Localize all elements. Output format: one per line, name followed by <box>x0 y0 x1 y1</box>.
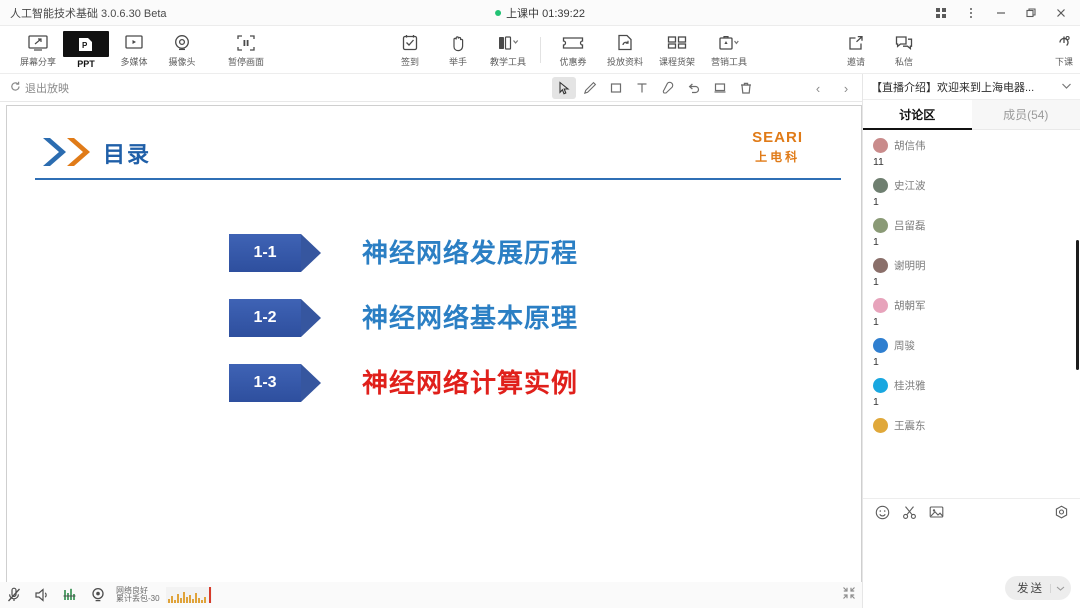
raise-hand-icon <box>450 33 466 53</box>
avatar <box>873 338 888 353</box>
toolbar-divider <box>540 37 541 63</box>
chat-tabs: 讨论区 成员(54) <box>863 100 1080 130</box>
chat-text: 1 <box>873 276 1070 288</box>
undo-tool[interactable] <box>682 77 706 99</box>
image-icon[interactable] <box>929 505 944 519</box>
chat-text: 1 <box>873 396 1070 408</box>
chat-text: 11 <box>873 156 1070 168</box>
avatar <box>873 138 888 153</box>
chevron-orange-icon <box>65 136 99 168</box>
grid-icon[interactable] <box>926 0 956 26</box>
slide-canvas[interactable]: 目录 SEARI 上电科 1-1 神经网络发展历程 1-2 <box>6 105 862 608</box>
toolbar-camera[interactable]: 摄像头 <box>158 27 206 73</box>
packet-loss-label: 累计丢包-30 <box>116 595 160 603</box>
toolbar-ppt-label: PPT <box>77 59 95 69</box>
toc-badge: 1-1 <box>229 234 319 272</box>
chat-sender: 谢明明 <box>894 258 926 273</box>
chat-sender: 胡朝军 <box>894 298 926 313</box>
chat-message: 周骏 1 <box>873 338 1070 368</box>
trash-tool[interactable] <box>734 77 758 99</box>
toolbar-push-material-label: 投放资料 <box>607 55 643 68</box>
rotate-exit-icon <box>10 81 21 95</box>
marketing-tools-icon <box>718 33 740 53</box>
slide-header: 目录 SEARI 上电科 <box>7 106 862 181</box>
toolbar-marketing-tools[interactable]: 营销工具 <box>703 27 755 73</box>
slide-toc: 1-1 神经网络发展历程 1-2 神经网络基本原理 1-3 <box>7 234 862 429</box>
chat-message: 胡朝军 1 <box>873 298 1070 328</box>
toc-number: 1-1 <box>229 234 301 272</box>
exit-presentation-button[interactable]: 退出放映 <box>10 80 69 96</box>
toolbar-teaching-tools-label: 教学工具 <box>490 55 526 68</box>
eraser-tool[interactable] <box>656 77 680 99</box>
chat-sender: 周骏 <box>894 338 915 353</box>
cursor-tool[interactable] <box>552 77 576 99</box>
emoji-icon[interactable] <box>875 505 890 520</box>
chat-message: 史江波 1 <box>873 178 1070 208</box>
chat-message: 吕留磊 1 <box>873 218 1070 248</box>
toolbar-coupon-label: 优惠券 <box>559 55 586 68</box>
toolbar-pause-frame[interactable]: 暂停画面 <box>220 27 272 73</box>
send-options-icon[interactable] <box>1050 584 1065 593</box>
chat-text: 1 <box>873 196 1070 208</box>
toc-text: 神经网络基本原理 <box>362 298 578 335</box>
avatar <box>873 378 888 393</box>
exit-presentation-label: 退出放映 <box>25 80 69 96</box>
chat-scrollbar[interactable] <box>1076 240 1079 370</box>
toc-text: 神经网络计算实例 <box>362 363 578 400</box>
chat-text: 1 <box>873 236 1070 248</box>
toolbar-marketing-tools-label: 营销工具 <box>711 55 747 68</box>
avatar <box>873 298 888 313</box>
toolbar-right-group: 邀请 私信 下课 <box>832 26 1080 74</box>
toc-arrow-icon <box>301 234 321 272</box>
toolbar-course-shelf-label: 课程货架 <box>659 55 695 68</box>
toc-item: 1-3 神经网络计算实例 <box>7 364 862 429</box>
svg-text:P: P <box>82 41 88 50</box>
chat-message: 谢明明 1 <box>873 258 1070 288</box>
ppt-icon: P <box>63 31 109 57</box>
live-dot-icon <box>495 10 501 16</box>
screen-tool[interactable] <box>708 77 732 99</box>
status-bar: 网络良好 累计丢包-30 <box>0 582 862 608</box>
toc-arrow-icon <box>301 299 321 337</box>
network-status: 网络良好 累计丢包-30 <box>116 587 160 604</box>
course-shelf-icon <box>667 33 687 53</box>
logo-en-text: SEARI <box>752 130 803 145</box>
toc-badge: 1-2 <box>229 299 319 337</box>
toc-number: 1-2 <box>229 299 301 337</box>
room-selector[interactable]: 【直播介绍】欢迎来到上海电器... <box>863 74 1080 100</box>
chat-sender: 史江波 <box>894 178 926 193</box>
toolbar-teaching-tools[interactable]: 教学工具 <box>482 27 534 73</box>
toolbar-end-class[interactable]: 下课 <box>1040 27 1080 73</box>
send-label: 发送 <box>1017 580 1044 596</box>
toc-arrow-icon <box>301 364 321 402</box>
collapse-fullscreen-icon[interactable] <box>842 586 856 605</box>
slide-nav: ‹ › <box>810 74 854 102</box>
chat-messages[interactable]: 胡信伟 11 史江波 1 吕留磊 1 谢明明 1 胡朝军 <box>863 130 1080 490</box>
toc-badge: 1-3 <box>229 364 319 402</box>
media-icon <box>124 33 144 53</box>
more-icon[interactable] <box>956 0 986 26</box>
toolbar-coupon[interactable]: 优惠券 <box>547 27 599 73</box>
chat-sender: 吕留磊 <box>894 218 926 233</box>
scissors-icon[interactable] <box>902 505 917 520</box>
toolbar-left-group: 屏幕分享 P PPT 多媒体 <box>14 26 272 74</box>
settings-icon[interactable] <box>1054 505 1069 520</box>
main-toolbar: 屏幕分享 P PPT 多媒体 <box>0 26 1080 74</box>
title-bar: 人工智能技术基础 3.0.6.30 Beta 上课中 01:39:22 <box>0 0 1080 26</box>
app-window: 人工智能技术基础 3.0.6.30 Beta 上课中 01:39:22 <box>0 0 1080 608</box>
slide-title: 目录 <box>103 137 151 169</box>
chat-panel: 【直播介绍】欢迎来到上海电器... 讨论区 成员(54) 胡信伟 11 史江波 … <box>862 74 1080 608</box>
avatar <box>873 258 888 273</box>
chat-compose: 发送 <box>863 498 1080 608</box>
send-button[interactable]: 发送 <box>1005 576 1071 600</box>
room-title: 【直播介绍】欢迎来到上海电器... <box>871 79 1057 95</box>
toolbar-camera-label: 摄像头 <box>168 55 195 68</box>
tab-discussion[interactable]: 讨论区 <box>863 100 972 129</box>
send-row: 发送 <box>1005 576 1071 600</box>
camera-icon <box>173 33 191 53</box>
avatar <box>873 418 888 433</box>
chat-sender: 桂洪雅 <box>894 378 926 393</box>
coupon-icon <box>562 33 584 53</box>
toolbar-raise-hand-label: 举手 <box>449 55 467 68</box>
equalizer-icon[interactable] <box>56 582 84 608</box>
live-status: 上课中 01:39:22 <box>495 5 585 21</box>
restore-button[interactable] <box>1016 0 1046 26</box>
teaching-tools-icon <box>497 33 519 53</box>
toolbar-media-label: 多媒体 <box>120 55 147 68</box>
chat-text: 1 <box>873 316 1070 328</box>
avatar <box>873 178 888 193</box>
toolbar-private-message[interactable]: 私信 <box>880 27 928 73</box>
minimize-button[interactable] <box>986 0 1016 26</box>
toolbar-invite[interactable]: 邀请 <box>832 27 880 73</box>
toolbar-screen-share-label: 屏幕分享 <box>20 55 56 68</box>
toc-text: 神经网络发展历程 <box>362 233 578 270</box>
prev-slide-button[interactable]: ‹ <box>810 81 826 96</box>
avatar <box>873 218 888 233</box>
toolbar-push-material[interactable]: 投放资料 <box>599 27 651 73</box>
toolbar-screen-share[interactable]: 屏幕分享 <box>14 27 62 73</box>
chevron-down-icon <box>1061 82 1072 92</box>
window-controls <box>926 0 1076 26</box>
chat-message: 胡信伟 11 <box>873 138 1070 168</box>
slide-stage: 目录 SEARI 上电科 1-1 神经网络发展历程 1-2 <box>0 102 862 582</box>
private-message-icon <box>895 33 913 53</box>
annotation-tools <box>552 74 758 102</box>
toc-number: 1-3 <box>229 364 301 402</box>
compose-tools <box>863 499 1080 525</box>
header-rule <box>35 178 841 180</box>
chat-sender: 王震东 <box>894 418 926 433</box>
toolbar-ppt[interactable]: P PPT <box>62 27 110 73</box>
push-material-icon <box>617 33 633 53</box>
toc-item: 1-2 神经网络基本原理 <box>7 299 862 364</box>
live-status-text: 上课中 01:39:22 <box>506 5 585 21</box>
app-title: 人工智能技术基础 3.0.6.30 Beta <box>10 5 167 21</box>
screen-share-icon <box>28 33 48 53</box>
toolbar-invite-label: 邀请 <box>847 55 865 68</box>
next-slide-button[interactable]: › <box>838 81 854 96</box>
toc-item: 1-1 神经网络发展历程 <box>7 234 862 299</box>
chat-text: 1 <box>873 356 1070 368</box>
toolbar-checkin[interactable]: 签到 <box>386 27 434 73</box>
toolbar-media[interactable]: 多媒体 <box>110 27 158 73</box>
pen-tool[interactable] <box>578 77 602 99</box>
toolbar-checkin-label: 签到 <box>401 55 419 68</box>
chat-sender: 胡信伟 <box>894 138 926 153</box>
mic-muted-icon[interactable] <box>0 582 28 608</box>
toolbar-pause-frame-label: 暂停画面 <box>228 55 264 68</box>
speaker-icon[interactable] <box>28 582 56 608</box>
toolbar-end-class-label: 下课 <box>1055 55 1073 68</box>
seari-logo: SEARI 上电科 <box>752 130 803 165</box>
logo-cn-text: 上电科 <box>752 148 803 165</box>
end-class-icon <box>1056 33 1072 53</box>
text-tool[interactable] <box>630 77 654 99</box>
checkin-icon <box>402 33 418 53</box>
toolbar-center-group: 签到 举手 教学工具 <box>386 26 755 74</box>
invite-icon <box>848 33 864 53</box>
annotation-bar: 退出放映 <box>0 74 862 102</box>
chat-message: 王震东 <box>873 418 1070 433</box>
rect-tool[interactable] <box>604 77 628 99</box>
chat-message: 桂洪雅 1 <box>873 378 1070 408</box>
chat-input[interactable] <box>863 525 1080 571</box>
close-button[interactable] <box>1046 0 1076 26</box>
tab-members[interactable]: 成员(54) <box>972 100 1080 129</box>
toolbar-course-shelf[interactable]: 课程货架 <box>651 27 703 73</box>
location-icon[interactable] <box>84 582 112 608</box>
pause-frame-icon <box>237 33 255 53</box>
toolbar-private-message-label: 私信 <box>895 55 913 68</box>
network-sparkline <box>166 587 212 603</box>
toolbar-raise-hand[interactable]: 举手 <box>434 27 482 73</box>
